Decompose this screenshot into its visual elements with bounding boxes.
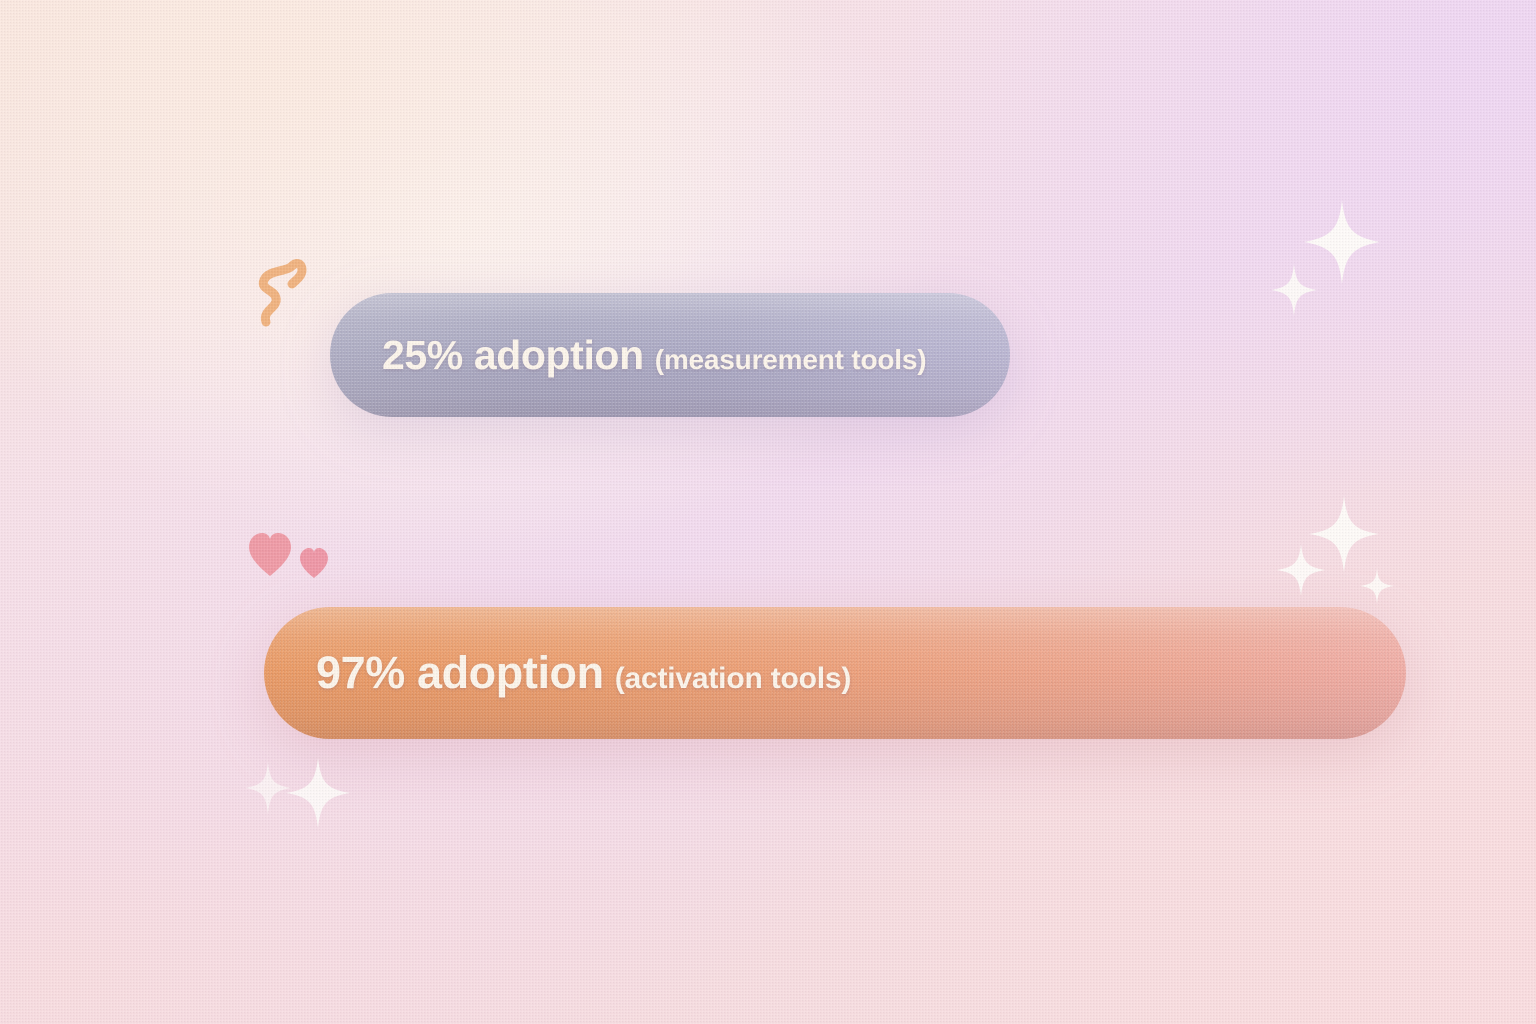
squiggle-icon xyxy=(252,258,316,330)
sparkles-icon-top-right xyxy=(1272,192,1402,322)
hearts-icon xyxy=(248,528,344,582)
sparkles-icon-bottom-left xyxy=(246,752,356,836)
bar-label-activation: 97% adoption (activation tools) xyxy=(316,647,851,699)
bar-qualifier-activation: (activation tools) xyxy=(615,662,851,696)
poster-canvas: 25% adoption (measurement tools) 97% ado… xyxy=(0,0,1536,1024)
progress-bar-measurement-tools[interactable]: 25% adoption (measurement tools) xyxy=(330,293,1010,417)
progress-bar-activation-tools[interactable]: 97% adoption (activation tools) xyxy=(264,607,1406,739)
sparkles-icon-mid-right xyxy=(1272,492,1404,602)
bar-value-measurement: 25% adoption xyxy=(382,332,644,379)
bar-label-measurement: 25% adoption (measurement tools) xyxy=(382,332,926,379)
bar-value-activation: 97% adoption xyxy=(316,647,604,699)
bar-qualifier-measurement: (measurement tools) xyxy=(655,344,927,376)
